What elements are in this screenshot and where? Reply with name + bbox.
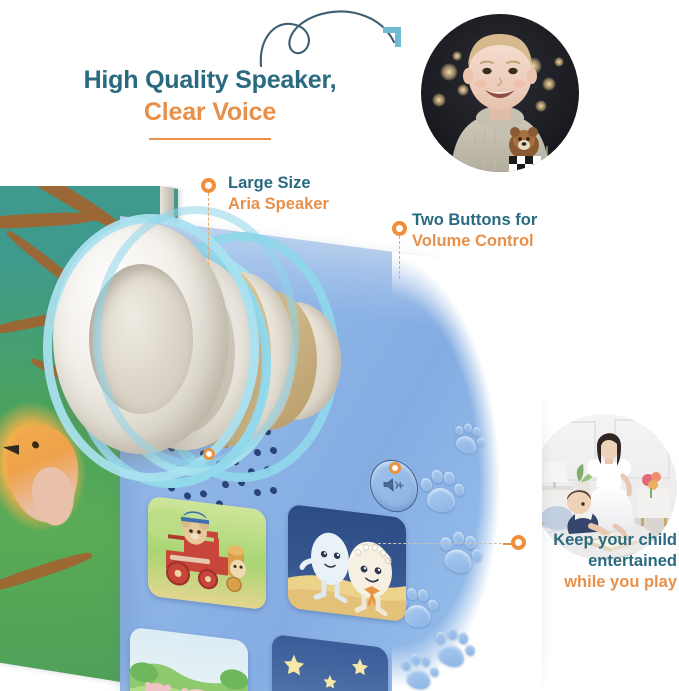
headline-line-2: Clear Voice	[40, 98, 380, 128]
marker-keep-child-entertained[interactable]	[511, 535, 526, 550]
paw-print-icon	[435, 526, 484, 582]
headline-underline	[149, 138, 271, 140]
speaker-driver-cutaway	[35, 206, 355, 506]
product-feature-graphic: High Quality Speaker, Clear Voice	[0, 0, 679, 691]
activity-button-train[interactable]	[148, 496, 266, 610]
connector-large-size	[208, 193, 209, 265]
curly-arrow-doodle	[255, 0, 420, 72]
activity-button-humpty-dumpty[interactable]	[288, 504, 406, 622]
headline-block: High Quality Speaker, Clear Voice	[40, 66, 380, 140]
connector-two-buttons	[399, 236, 400, 279]
paw-print-icon	[415, 467, 469, 518]
speaker-plus-icon	[381, 476, 406, 493]
endpoint-two-buttons-volume-control	[389, 462, 401, 474]
photo-smiling-toddler	[421, 14, 579, 172]
endpoint-large-size-aria-speaker	[203, 448, 215, 460]
product-photo-stage: G	[0, 186, 679, 691]
connector-keep-child	[378, 543, 512, 544]
marker-two-buttons-volume-control[interactable]	[392, 221, 407, 236]
paw-print-icon	[399, 651, 442, 691]
sound-wave-ring	[93, 206, 299, 468]
marker-large-size-aria-speaker[interactable]	[201, 178, 216, 193]
headline-line-1: High Quality Speaker,	[40, 66, 380, 96]
